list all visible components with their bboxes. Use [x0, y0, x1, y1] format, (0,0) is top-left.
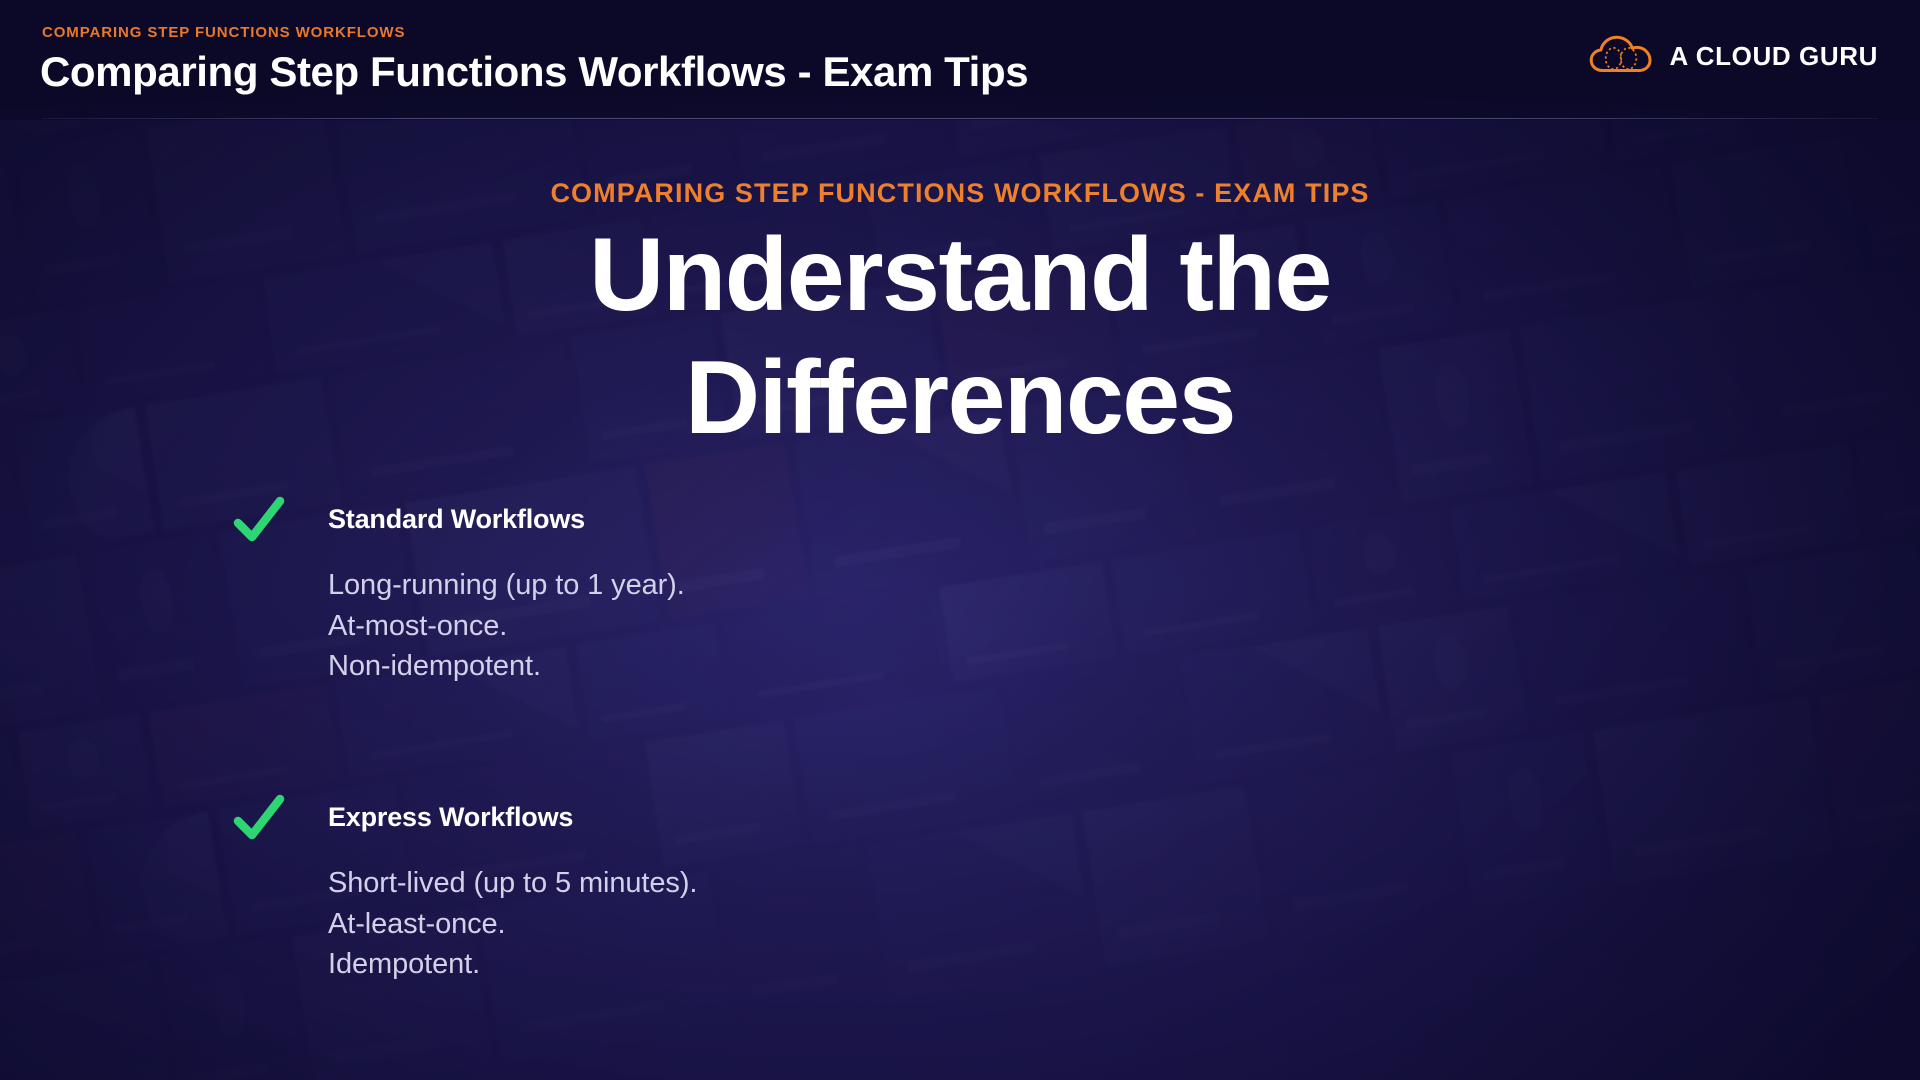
headline-line-1: Understand the	[0, 214, 1920, 337]
bullet-line: Non-idempotent.	[328, 646, 1232, 687]
header-divider	[42, 118, 1878, 119]
headline-line-2: Differences	[0, 337, 1920, 460]
brand-logo-text: A CLOUD GURU	[1670, 41, 1878, 72]
cloud-icon	[1589, 34, 1653, 78]
bullet-lines: Short-lived (up to 5 minutes). At-least-…	[328, 863, 1232, 985]
slide-headline: Understand the Differences	[0, 214, 1920, 459]
bullet-line: Idempotent.	[328, 944, 1232, 985]
brand-logo[interactable]: A CLOUD GURU	[1589, 34, 1878, 78]
bullet-line: At-least-once.	[328, 904, 1232, 945]
bullet-line: Short-lived (up to 5 minutes).	[328, 863, 1232, 904]
slide-eyebrow: COMPARING STEP FUNCTIONS WORKFLOWS - EXA…	[0, 178, 1920, 209]
header-kicker: COMPARING STEP FUNCTIONS WORKFLOWS	[42, 24, 405, 41]
bullet-item: Standard Workflows Long-running (up to 1…	[232, 494, 1232, 687]
slide-canvas: COMPARING STEP FUNCTIONS WORKFLOWS Compa…	[0, 0, 1920, 1080]
bullet-title: Standard Workflows	[328, 494, 1232, 533]
slide-main-content: COMPARING STEP FUNCTIONS WORKFLOWS - EXA…	[0, 0, 1920, 1080]
bullet-line: Long-running (up to 1 year).	[328, 565, 1232, 606]
bullet-line: At-most-once.	[328, 606, 1232, 647]
page-header: COMPARING STEP FUNCTIONS WORKFLOWS Compa…	[0, 0, 1920, 122]
bullet-lines: Long-running (up to 1 year). At-most-onc…	[328, 565, 1232, 687]
bullet-body: Express Workflows Short-lived (up to 5 m…	[328, 792, 1232, 985]
bullet-title: Express Workflows	[328, 792, 1232, 831]
bullet-body: Standard Workflows Long-running (up to 1…	[328, 494, 1232, 687]
bullet-item: Express Workflows Short-lived (up to 5 m…	[232, 792, 1232, 985]
green-check-icon	[232, 494, 286, 548]
page-title: Comparing Step Functions Workflows - Exa…	[40, 48, 1028, 96]
green-check-icon	[232, 792, 286, 846]
